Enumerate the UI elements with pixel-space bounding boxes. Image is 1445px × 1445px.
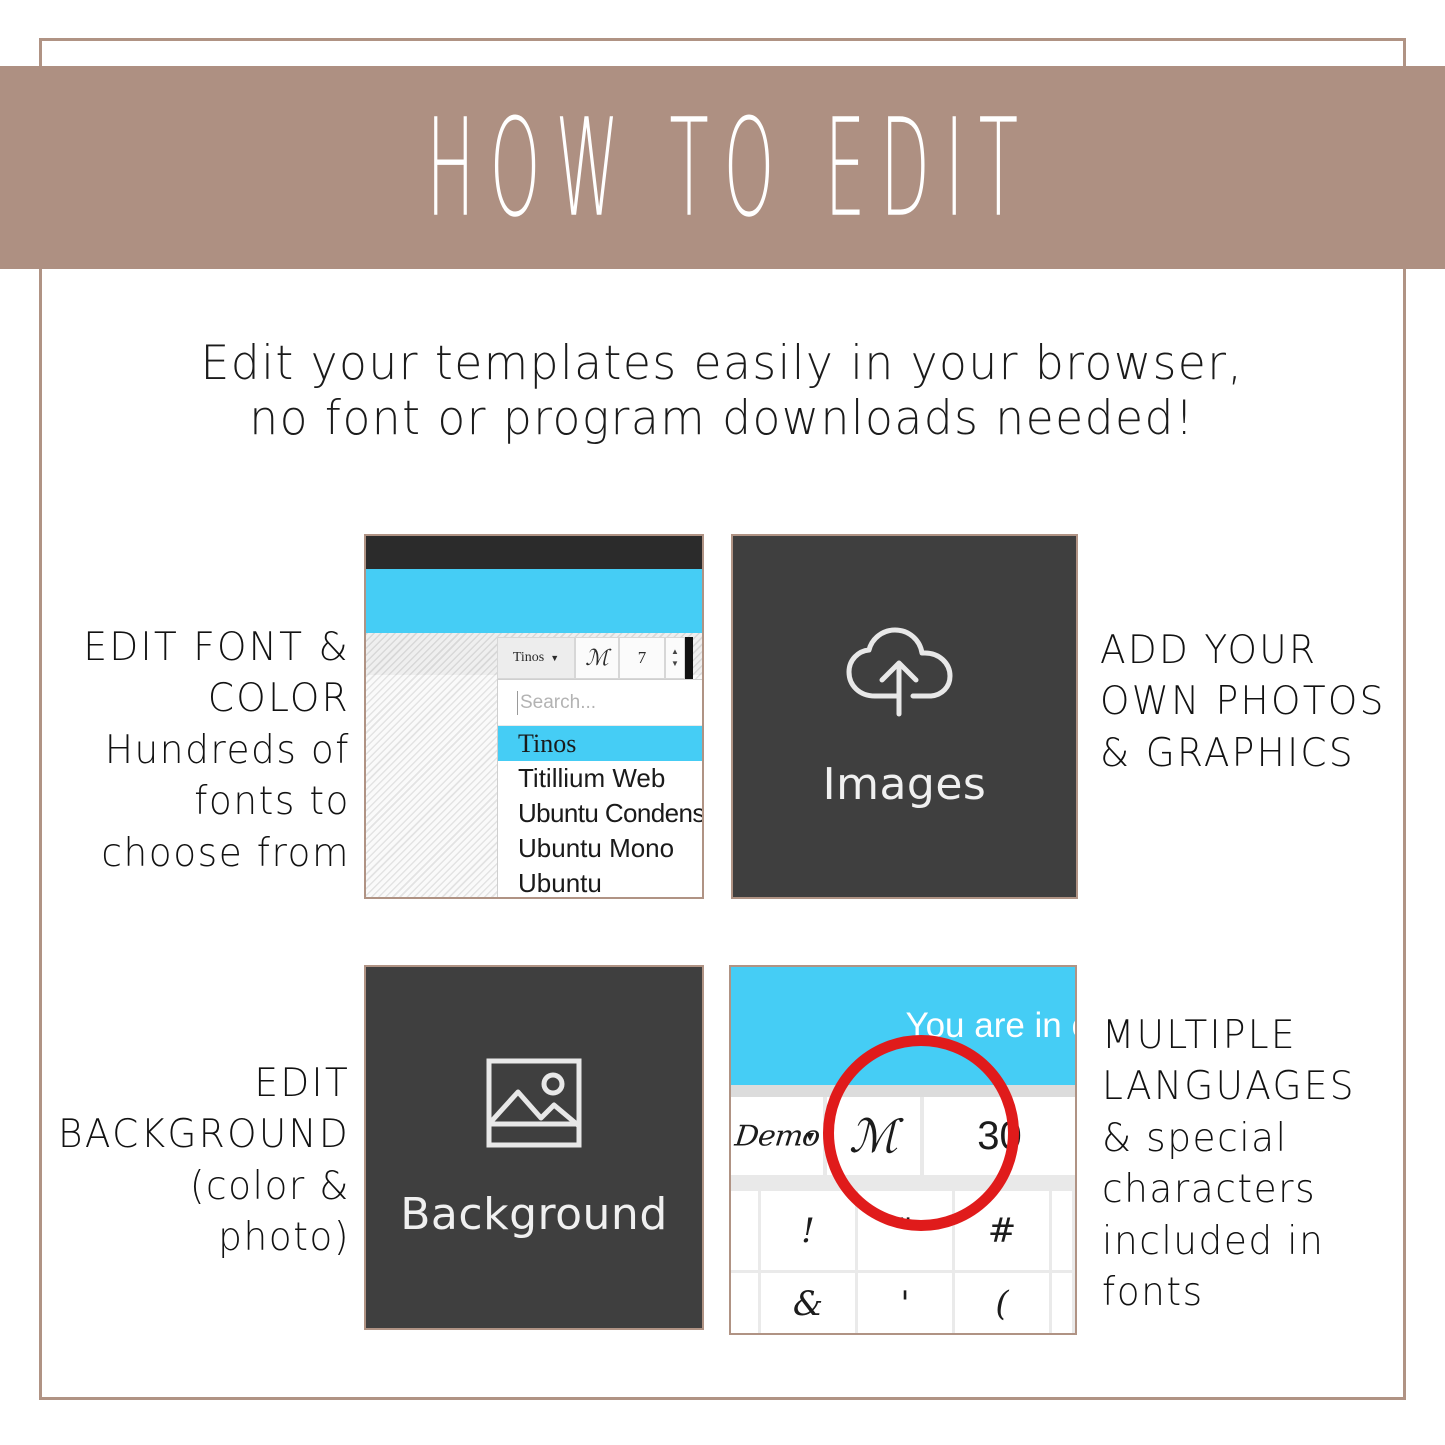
caption-line: & GRAPHICS [1100, 728, 1417, 779]
font-toolbar: Tinos ▼ ℳ 7 ▲ ▼ [497, 637, 693, 679]
app-accent-bar [366, 569, 702, 633]
images-button[interactable]: Images [733, 536, 1076, 897]
caption-line: EDIT [43, 1058, 350, 1109]
grid-cell-spacer [731, 1191, 761, 1273]
script-a-icon: ℳ [849, 1109, 898, 1163]
character-cell[interactable]: # [955, 1191, 1052, 1273]
character-grid: ! " # & ' ( [731, 1191, 1075, 1335]
font-option-label: Ubuntu Mono [518, 833, 674, 864]
character-glyph: & [793, 1284, 823, 1324]
chevron-down-icon: ▼ [803, 1128, 817, 1144]
font-family-dropdown[interactable]: Tinos ▼ [497, 637, 575, 679]
font-option-label: Titillium Web [518, 763, 665, 794]
character-cell[interactable]: ( [955, 1273, 1052, 1335]
caption-line: fonts [1102, 1267, 1424, 1318]
font-option-label: Tinos [518, 729, 576, 759]
screenshot-background-tool: Background [364, 965, 704, 1330]
font-option-label: Ubuntu [518, 868, 602, 899]
font-search-placeholder-text: Search... [520, 692, 596, 714]
chevron-up-icon: ▲ [671, 648, 679, 656]
caption-line: ADD YOUR [1100, 625, 1417, 676]
images-label: Images [823, 759, 987, 810]
script-a-icon: ℳ [585, 646, 609, 671]
caption-line: fonts to [52, 776, 350, 827]
app-accent-bar: You are in c [731, 967, 1075, 1085]
caption-add-photos: ADD YOUR OWN PHOTOS & GRAPHICS [1100, 625, 1417, 779]
caption-edit-background: EDIT BACKGROUND (color & photo) [43, 1058, 350, 1264]
page-title: HOW TO EDIT [412, 100, 1033, 235]
caption-line: included in [1102, 1216, 1424, 1267]
character-cell[interactable]: ' [858, 1273, 955, 1335]
caption-line: photo) [43, 1212, 350, 1263]
divider [731, 1085, 1075, 1097]
character-toolbar: Demo ▼ ℳ 30 [731, 1097, 1075, 1175]
chevron-down-icon: ▼ [671, 660, 679, 668]
poster-root: HOW TO EDIT Edit your templates easily i… [0, 0, 1445, 1445]
caption-multiple-languages: MULTIPLE LANGUAGES & special characters … [1102, 1010, 1424, 1319]
special-glyph-button[interactable]: ℳ [575, 637, 619, 679]
caption-line: choose from [52, 828, 350, 879]
caption-line: OWN PHOTOS [1100, 676, 1417, 727]
grid-cell-spacer [1052, 1191, 1075, 1273]
font-size-value: 7 [638, 648, 647, 668]
font-family-value: Tinos [513, 650, 544, 666]
caption-line: COLOR [52, 673, 350, 724]
text-cursor-icon [517, 691, 518, 715]
font-size-stepper[interactable]: ▲ ▼ [665, 637, 685, 679]
special-glyph-button[interactable]: ℳ [827, 1097, 924, 1175]
character-cell[interactable]: " [858, 1191, 955, 1273]
font-option[interactable]: Ubuntu Condensed [498, 796, 704, 831]
font-size-input[interactable]: 7 [619, 637, 665, 679]
character-glyph: " [897, 1211, 913, 1251]
grid-header-band [731, 1175, 1075, 1191]
font-option[interactable]: Ubuntu Mono [498, 831, 704, 866]
screenshot-font-picker: Tinos ▼ ℳ 7 ▲ ▼ Search... Tinos [364, 534, 704, 899]
caption-edit-font-color: EDIT FONT & COLOR Hundreds of fonts to c… [52, 622, 350, 879]
caption-line: BACKGROUND [43, 1109, 350, 1160]
caption-line: (color & [43, 1161, 350, 1212]
caption-line: & special [1102, 1113, 1424, 1164]
character-cell[interactable]: & [761, 1273, 858, 1335]
font-option-label: Ubuntu Condensed [518, 798, 704, 829]
subtitle-line-2: no font or program downloads needed! [92, 391, 1353, 446]
character-glyph: ( [995, 1284, 1008, 1324]
font-option[interactable]: Ubuntu [498, 866, 704, 899]
subtitle-line-1: Edit your templates easily in your brows… [92, 336, 1353, 391]
picture-icon [484, 1056, 584, 1155]
font-family-dropdown[interactable]: Demo ▼ [731, 1097, 827, 1175]
font-size-value: 30 [977, 1114, 1022, 1159]
background-label: Background [400, 1189, 668, 1240]
header-banner: HOW TO EDIT [0, 66, 1445, 269]
caption-line: MULTIPLE [1102, 1010, 1424, 1061]
color-swatch-black[interactable] [685, 637, 693, 679]
chevron-down-icon: ▼ [550, 653, 559, 663]
grid-cell-spacer [1052, 1273, 1075, 1335]
cloud-upload-icon [841, 624, 969, 725]
grid-cell-spacer [731, 1273, 761, 1335]
font-option[interactable]: Titillium Web [498, 761, 704, 796]
character-glyph: ! [801, 1211, 815, 1251]
caption-line: EDIT FONT & [52, 622, 350, 673]
font-option[interactable]: Tinos [498, 726, 704, 761]
character-cell[interactable]: ! [761, 1191, 858, 1273]
caption-line: characters [1102, 1164, 1424, 1215]
subtitle-text: Edit your templates easily in your brows… [92, 336, 1353, 447]
background-button[interactable]: Background [366, 967, 702, 1328]
font-dropdown-list: Search... Tinos Titillium Web Ubuntu Con… [497, 679, 704, 899]
app-titlebar [366, 536, 702, 569]
status-message: You are in c [905, 1006, 1077, 1046]
character-glyph: ' [900, 1284, 909, 1324]
screenshot-characters-tool: You are in c Demo ▼ ℳ 30 ! " [729, 965, 1077, 1335]
font-size-input[interactable]: 30 [924, 1097, 1075, 1175]
caption-line: LANGUAGES [1102, 1061, 1424, 1112]
font-search-input[interactable]: Search... [498, 680, 704, 726]
screenshot-images-tool: Images [731, 534, 1078, 899]
caption-line: Hundreds of [52, 725, 350, 776]
character-glyph: # [988, 1211, 1017, 1251]
